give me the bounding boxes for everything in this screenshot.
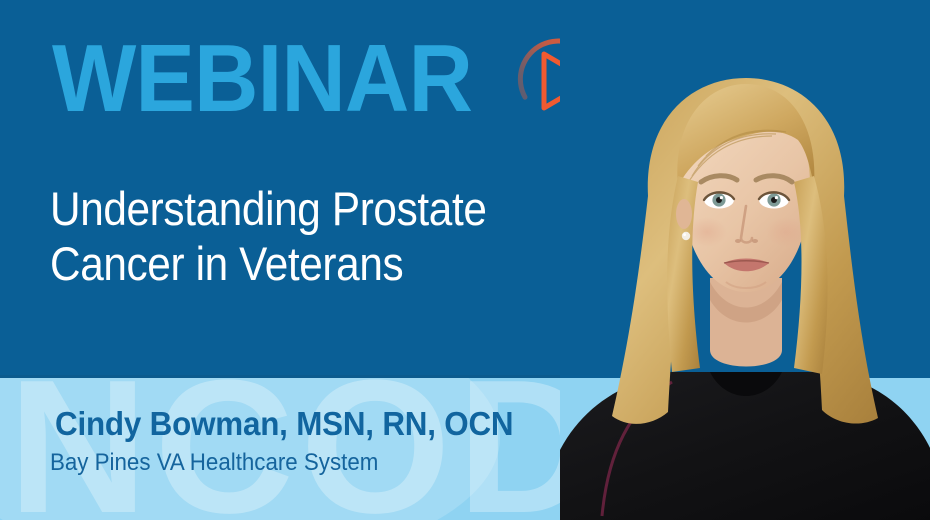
speaker-name: Cindy Bowman, MSN, RN, OCN [55, 405, 513, 443]
speaker-organization: Bay Pines VA Healthcare System [50, 449, 378, 477]
speaker-portrait [560, 0, 930, 520]
title-line-2: Cancer in Veterans [50, 236, 518, 291]
webinar-title-card: WEBINAR Underst [0, 0, 930, 520]
webinar-eyebrow: WEBINAR [52, 22, 612, 137]
page-title: Understanding Prostate Cancer in Veteran… [50, 181, 518, 292]
webinar-label: WEBINAR [52, 35, 472, 123]
title-line-1: Understanding Prostate [50, 181, 518, 236]
